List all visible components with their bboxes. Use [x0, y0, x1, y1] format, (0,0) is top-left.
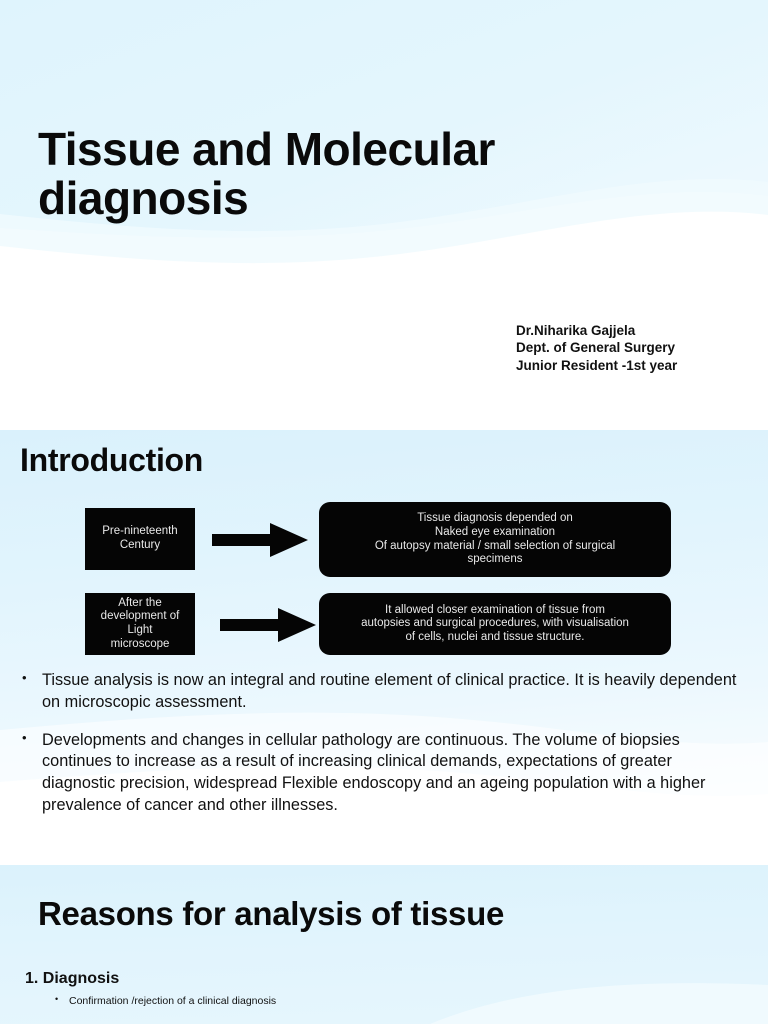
diagram-box-text: After the development of Light microscop…: [101, 597, 180, 651]
diagram-box-text: It allowed closer examination of tissue …: [361, 604, 629, 645]
author-name: Dr.Niharika Gajjela: [516, 322, 677, 339]
diagram-box-pre-nineteenth-century: Pre-nineteenth Century: [85, 508, 195, 570]
diagram-line: Light: [128, 624, 153, 636]
diagram-box-text: Tissue diagnosis depended on Naked eye e…: [375, 512, 615, 566]
title-slide: Tissue and Molecular diagnosis Dr.Nihari…: [0, 0, 768, 430]
diagram-box-tissue-diagnosis-result: Tissue diagnosis depended on Naked eye e…: [319, 502, 671, 577]
right-arrow-icon: [220, 605, 316, 645]
diagram-line: microscope: [111, 638, 170, 650]
diagram-line: autopsies and surgical procedures, with …: [361, 617, 629, 629]
author-department: Dept. of General Surgery: [516, 339, 677, 356]
introduction-flow-diagram: Pre-nineteenth Century Tissue diagnosis …: [0, 430, 768, 670]
reason-item-diagnosis: 1. Diagnosis: [25, 970, 119, 988]
presentation-document: Tissue and Molecular diagnosis Dr.Nihari…: [0, 0, 768, 1024]
diagram-line: specimens: [468, 553, 523, 565]
right-arrow-icon: [212, 520, 308, 560]
reasons-slide: Reasons for analysis of tissue 1. Diagno…: [0, 865, 768, 1024]
list-item: Developments and changes in cellular pat…: [16, 730, 740, 817]
diagram-box-text: Pre-nineteenth Century: [102, 525, 177, 552]
diagram-line: of cells, nuclei and tissue structure.: [406, 631, 585, 643]
introduction-bullet-list: Tissue analysis is now an integral and r…: [16, 670, 740, 833]
diagram-line: Century: [120, 539, 160, 551]
page-title: Tissue and Molecular diagnosis: [38, 125, 638, 223]
diagram-line: Naked eye examination: [435, 526, 555, 538]
section-heading-reasons: Reasons for analysis of tissue: [38, 895, 504, 933]
list-item: Tissue analysis is now an integral and r…: [16, 670, 740, 714]
reason-sub-bullet: Confirmation /rejection of a clinical di…: [55, 994, 285, 1008]
introduction-slide: Introduction Pre-nineteenth Century Tiss…: [0, 430, 768, 865]
author-designation: Junior Resident -1st year: [516, 357, 677, 374]
author-block: Dr.Niharika Gajjela Dept. of General Sur…: [516, 322, 677, 374]
diagram-line: Pre-nineteenth: [102, 525, 177, 537]
diagram-line: development of: [101, 610, 180, 622]
diagram-box-microscope-result: It allowed closer examination of tissue …: [319, 593, 671, 655]
diagram-box-light-microscope: After the development of Light microscop…: [85, 593, 195, 655]
diagram-line: Tissue diagnosis depended on: [417, 512, 573, 524]
diagram-line: Of autopsy material / small selection of…: [375, 540, 615, 552]
diagram-line: After the: [118, 597, 161, 609]
diagram-line: It allowed closer examination of tissue …: [385, 604, 605, 616]
